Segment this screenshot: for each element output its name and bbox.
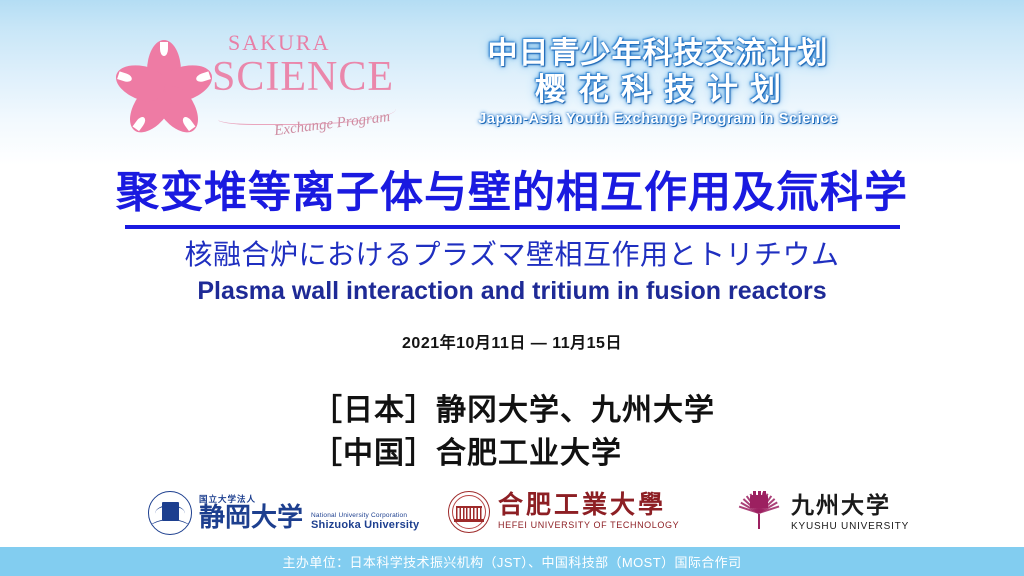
- banner-chinese-subtitle: 樱花科技计划: [458, 72, 858, 109]
- footer-bar: 主办单位：日本科学技术振兴机构（JST）、中国科技部（MOST）国际合作司: [0, 547, 1024, 576]
- hefei-seal-emblem-icon: [448, 491, 490, 533]
- header-row: SAKURA SCIENCE Exchange Program 中日青少年科技交…: [0, 16, 1024, 136]
- subtitle-japanese: 核融合炉におけるプラズマ壁相互作用とトリチウム: [0, 238, 1024, 272]
- kyushu-wordmark: 九州大学 KYUSHU UNIVERSITY: [791, 493, 909, 532]
- university-logo-row: 国立大学法人 静岡大学 National University Corporat…: [0, 488, 1024, 542]
- banner-english-title: Japan-Asia Youth Exchange Program in Sci…: [458, 111, 858, 127]
- title-block: 聚变堆等离子体与壁的相互作用及氚科学 核融合炉におけるプラズマ壁相互作用とトリチ…: [0, 168, 1024, 306]
- kyushu-name-ja: 九州大学: [791, 493, 909, 518]
- program-banner: 中日青少年科技交流计划 樱花科技计划 Japan-Asia Youth Exch…: [458, 36, 858, 127]
- shizuoka-en-line2: Shizuoka University: [311, 519, 419, 532]
- participating-institutions: ［日本］静冈大学、九州大学 ［中国］合肥工业大学: [0, 390, 1024, 475]
- participant-line-japan: ［日本］静冈大学、九州大学: [292, 390, 732, 433]
- page-title: 聚变堆等离子体与壁的相互作用及氚科学: [0, 168, 1024, 219]
- shizuoka-fuji-emblem-icon: [148, 491, 192, 535]
- hefei-university-logo: 合肥工業大學 HEFEI UNIVERSITY OF TECHNOLOGY: [448, 491, 679, 533]
- footer-organizers-text: 主办单位：日本科学技术振兴机构（JST）、中国科技部（MOST）国际合作司: [283, 552, 742, 571]
- participant-line-china: ［中国］合肥工业大学: [292, 433, 732, 476]
- shizuoka-en-line1: National University Corporation: [311, 512, 419, 520]
- hefei-name-zh: 合肥工業大學: [498, 493, 679, 520]
- hefei-name-en: HEFEI UNIVERSITY OF TECHNOLOGY: [498, 520, 679, 531]
- cherry-blossom-icon: [112, 38, 216, 142]
- subtitle-english: Plasma wall interaction and tritium in f…: [0, 276, 1024, 306]
- kyushu-university-logo: 九州大学 KYUSHU UNIVERSITY: [736, 490, 909, 536]
- shizuoka-english-name: National University Corporation Shizuoka…: [311, 512, 419, 535]
- sakura-science-logo: SAKURA SCIENCE Exchange Program: [112, 26, 387, 146]
- sakura-wordmark: SAKURA SCIENCE Exchange Program: [212, 32, 392, 99]
- kyushu-name-en: KYUSHU UNIVERSITY: [791, 521, 909, 533]
- title-divider: [125, 225, 900, 229]
- science-word: SCIENCE: [212, 55, 392, 99]
- sakura-word: SAKURA: [212, 32, 392, 54]
- kyushu-sunburst-emblem-icon: [736, 490, 782, 536]
- shizuoka-university-logo: 国立大学法人 静岡大学 National University Corporat…: [148, 491, 419, 535]
- poster-slide: SAKURA SCIENCE Exchange Program 中日青少年科技交…: [0, 0, 1024, 576]
- event-date: 2021年10月11日 ― 11月15日: [0, 329, 1024, 353]
- hefei-wordmark: 合肥工業大學 HEFEI UNIVERSITY OF TECHNOLOGY: [498, 493, 679, 531]
- banner-chinese-title: 中日青少年科技交流计划: [458, 36, 858, 71]
- shizuoka-name-ja: 静岡大学: [199, 504, 303, 531]
- shizuoka-wordmark: 国立大学法人 静岡大学: [199, 495, 303, 531]
